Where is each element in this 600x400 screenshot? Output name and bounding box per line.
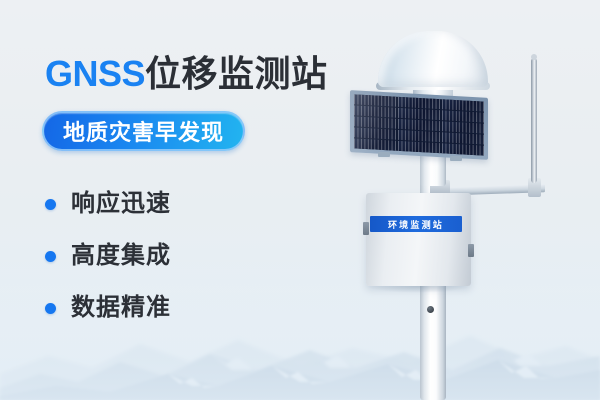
feature-label: 响应迅速 bbox=[71, 190, 171, 218]
cabinet-label: 环境监测站 bbox=[370, 216, 462, 232]
solar-panel-foot bbox=[378, 152, 390, 157]
monitoring-station-illustration: 环境监测站 bbox=[330, 0, 600, 400]
promo-banner: 环境监测站 GNSS位移监测站 地质灾害早发现 响应迅速 高度集成 数据精准 bbox=[0, 0, 600, 400]
title-en: GNSS bbox=[45, 53, 145, 94]
cabinet-latch-right bbox=[468, 244, 474, 257]
whip-antenna-tip bbox=[531, 54, 537, 60]
cabinet-shadow bbox=[366, 286, 471, 293]
page-title: GNSS位移监测站 bbox=[45, 53, 328, 95]
bullet-dot-icon bbox=[45, 199, 56, 210]
solar-panel-cells bbox=[354, 94, 484, 155]
bullet-dot-icon bbox=[45, 251, 56, 262]
whip-antenna bbox=[531, 58, 537, 183]
equipment-cabinet bbox=[366, 193, 471, 286]
list-item: 高度集成 bbox=[45, 230, 171, 282]
tagline-badge: 地质灾害早发现 bbox=[42, 111, 245, 151]
feature-list: 响应迅速 高度集成 数据精准 bbox=[45, 178, 171, 334]
cabinet-latch-left bbox=[363, 222, 369, 235]
gnss-dome-antenna bbox=[378, 31, 488, 87]
feature-label: 高度集成 bbox=[71, 242, 171, 270]
list-item: 数据精准 bbox=[45, 282, 171, 334]
title-cn: 位移监测站 bbox=[145, 53, 328, 94]
solar-panel bbox=[350, 90, 488, 160]
bullet-dot-icon bbox=[45, 303, 56, 314]
solar-panel-foot bbox=[450, 156, 462, 161]
feature-label: 数据精准 bbox=[71, 294, 171, 322]
list-item: 响应迅速 bbox=[45, 178, 171, 230]
